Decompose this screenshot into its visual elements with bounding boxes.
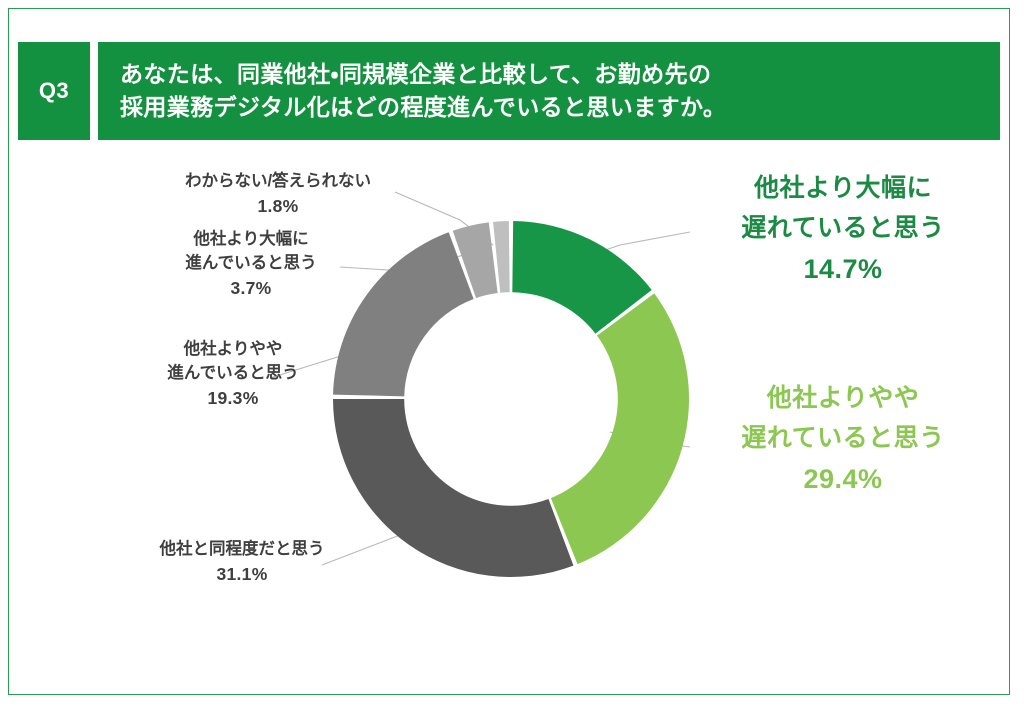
slice-label-far-behind-line2: 遅れていると思う — [688, 208, 998, 248]
slice-label-far-behind-line1: 他社より大幅に — [688, 168, 998, 208]
slice-label-unknown-pct: 1.8% — [128, 194, 428, 219]
slice-label-far-behind: 他社より大幅に 遅れていると思う 14.7% — [688, 168, 998, 291]
slice-label-far-ahead: 他社より大幅に 進んでいると思う 3.7% — [106, 228, 396, 301]
slice-label-far-ahead-line1: 他社より大幅に — [106, 228, 396, 252]
question-title-line-1: あなたは、同業他社・同規模企業と比較して、お勤め先の — [120, 58, 1000, 91]
slice-label-unknown: わからない/答えられない 1.8% — [128, 170, 428, 219]
chart-area: わからない/答えられない 1.8% 他社より大幅に 進んでいると思う 3.7% … — [0, 150, 1024, 620]
slice-label-ahead-line1: 他社よりやや — [88, 338, 378, 362]
slice-label-behind-line2: 遅れていると思う — [688, 418, 998, 458]
question-number-label: Q3 — [39, 78, 69, 104]
slice-label-same-pct: 31.1% — [92, 562, 392, 587]
slice-label-unknown-line1: わからない/答えられない — [128, 170, 428, 194]
donut-slice — [551, 293, 689, 564]
slice-label-ahead-pct: 19.3% — [88, 386, 378, 411]
question-title-line-2: 採用業務デジタル化はどの程度進んでいると思いますか。 — [120, 91, 1000, 124]
slice-label-far-ahead-line2: 進んでいると思う — [106, 252, 396, 276]
slice-label-ahead-line2: 進んでいると思う — [88, 362, 378, 386]
slide-root: Q3 あなたは、同業他社・同規模企業と比較して、お勤め先の 採用業務デジタル化は… — [0, 0, 1024, 709]
slice-label-behind-pct: 29.4% — [688, 458, 998, 501]
slice-label-same-line1: 他社と同程度だと思う — [92, 538, 392, 562]
question-number-badge: Q3 — [18, 42, 90, 140]
slice-label-same: 他社と同程度だと思う 31.1% — [92, 538, 392, 587]
question-header: Q3 あなたは、同業他社・同規模企業と比較して、お勤め先の 採用業務デジタル化は… — [18, 42, 1000, 140]
slide-footer: ミツモア 株式会社ミツモア 中小企業の採用管理システム導入に関する実態調査｜n=… — [0, 624, 1024, 696]
slice-label-behind-line1: 他社よりやや — [688, 378, 998, 418]
question-title-block: あなたは、同業他社・同規模企業と比較して、お勤め先の 採用業務デジタル化はどの程… — [98, 42, 1000, 140]
slice-label-far-ahead-pct: 3.7% — [106, 276, 396, 301]
slice-label-far-behind-pct: 14.7% — [688, 248, 998, 291]
slice-label-behind: 他社よりやや 遅れていると思う 29.4% — [688, 378, 998, 501]
slice-label-ahead: 他社よりやや 進んでいると思う 19.3% — [88, 338, 378, 411]
